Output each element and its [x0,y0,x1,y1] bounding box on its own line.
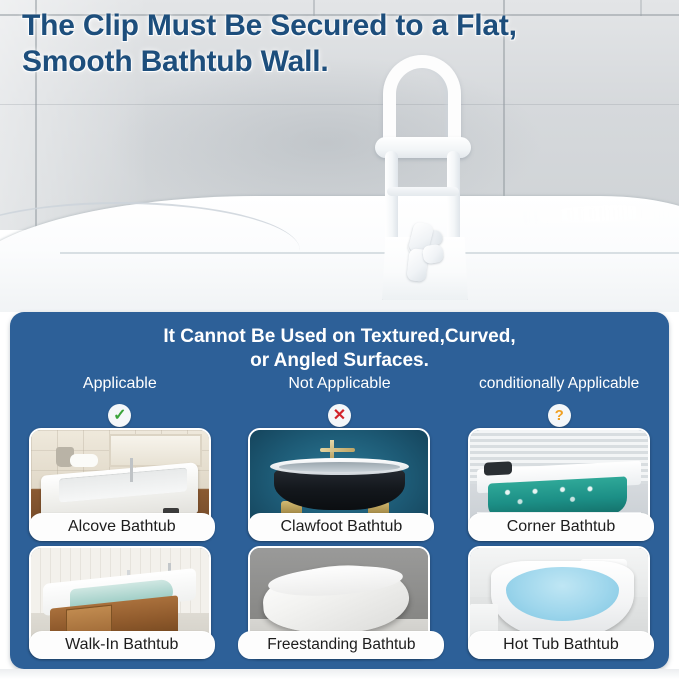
bathtub-card-label: Clawfoot Bathtub [248,513,434,541]
bathtub-card-label: Hot Tub Bathtub [468,631,654,659]
bathtub-card-alcove[interactable]: Alcove Bathtub [29,428,211,540]
bathtub-card-freestanding[interactable]: Freestanding Bathtub [248,546,430,658]
column-headers: Applicable Not Applicable conditionally … [10,374,669,394]
check-icon: ✓ [108,404,131,427]
bathtub-card-walk-in[interactable]: Walk-In Bathtub [29,546,211,658]
card-cell: Hot Tub Bathtub [449,546,669,664]
product-infographic: The Clip Must Be Secured to a Flat, Smoo… [0,0,679,679]
column-header-conditionally-applicable: conditionally Applicable [449,374,669,394]
bathtub-card-grid: Alcove Bathtub Clawfoot Bathtub [10,428,669,664]
bathtub-card-clawfoot[interactable]: Clawfoot Bathtub [248,428,430,540]
card-cell: Walk-In Bathtub [10,546,230,664]
card-cell: Freestanding Bathtub [230,546,450,664]
badge-cell: ✓ [10,404,230,427]
bottom-edge [0,669,679,679]
panel-heading: It Cannot Be Used on Textured,Curved, or… [10,325,669,373]
clamp-knob-wing [422,244,444,265]
column-header-applicable: Applicable [10,374,230,394]
bathtub-card-corner[interactable]: Corner Bathtub [468,428,650,540]
column-header-not-applicable: Not Applicable [230,374,450,394]
bathtub-card-label: Walk-In Bathtub [29,631,215,659]
status-badges-row: ✓ ✕ ? [10,404,669,427]
bathtub-card-hot-tub[interactable]: Hot Tub Bathtub [468,546,650,658]
question-icon: ? [548,404,571,427]
grab-bar-rung [387,187,459,196]
bathtub-inner-lip [0,202,300,312]
page-title: The Clip Must Be Secured to a Flat, Smoo… [22,8,642,80]
compatibility-panel: It Cannot Be Used on Textured,Curved, or… [10,312,669,669]
cross-icon: ✕ [328,404,351,427]
grab-bar-clip-product [355,55,505,300]
bathtub-card-label: Corner Bathtub [468,513,654,541]
card-cell: Corner Bathtub [449,428,669,546]
badge-cell: ✕ [230,404,450,427]
grout-line [0,104,679,105]
clamp-knob [405,221,445,283]
bathtub-card-label: Freestanding Bathtub [238,631,444,659]
bathtub-card-label: Alcove Bathtub [29,513,215,541]
card-cell: Clawfoot Bathtub [230,428,450,546]
card-cell: Alcove Bathtub [10,428,230,546]
badge-cell: ? [449,404,669,427]
